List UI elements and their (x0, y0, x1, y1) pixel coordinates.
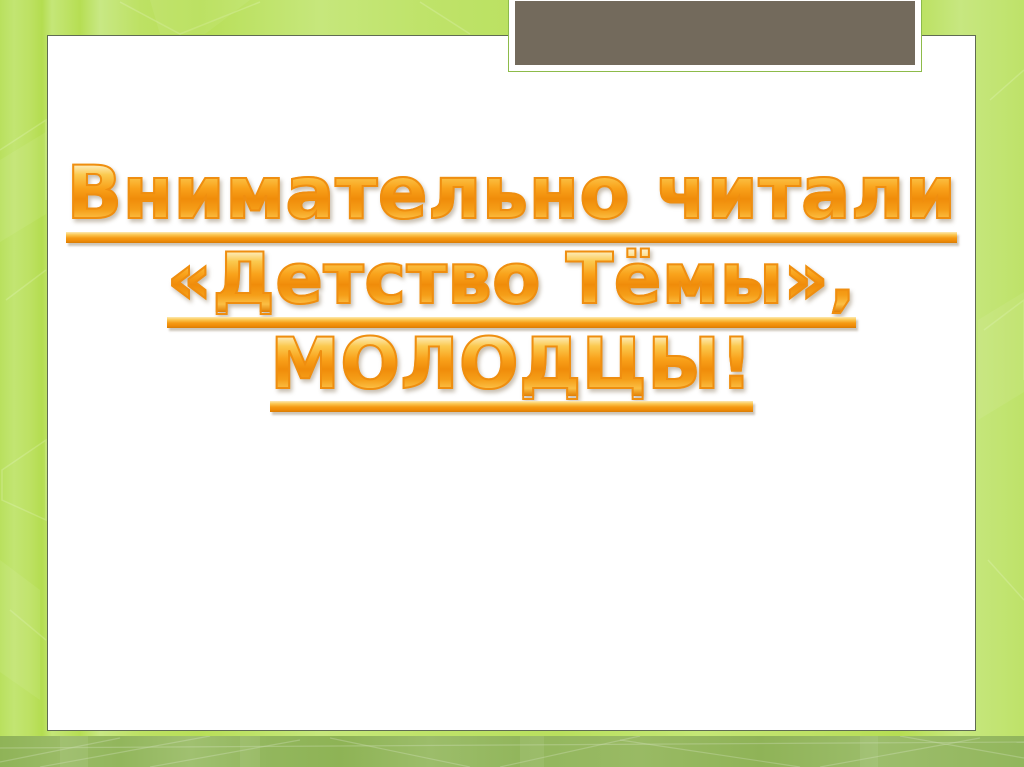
title-line-2-inner: «Детство Тёмы», «Детство Тёмы», (167, 247, 857, 327)
picture-placeholder-fill (515, 1, 915, 65)
title-line-3: МОЛОДЦЫ! МОЛОДЦЫ! (47, 332, 976, 412)
slide-title: Внимательно читали Внимательно читали «Д… (47, 160, 976, 412)
picture-placeholder[interactable] (508, 0, 922, 72)
title-line-3-text: МОЛОДЦЫ! (270, 332, 753, 396)
footer-band-pattern-icon (0, 736, 1024, 767)
title-line-1-inner: Внимательно читали Внимательно читали (66, 160, 956, 243)
title-line-1-text: Внимательно читали (66, 160, 956, 227)
title-line-3-inner: МОЛОДЦЫ! МОЛОДЦЫ! (270, 332, 753, 412)
title-line-2-text: «Детство Тёмы», (167, 247, 857, 311)
slide-footer-band (0, 736, 1024, 767)
title-line-1: Внимательно читали Внимательно читали (47, 160, 976, 243)
title-line-3-underline (270, 401, 753, 412)
title-line-2: «Детство Тёмы», «Детство Тёмы», (47, 247, 976, 327)
presentation-slide: Внимательно читали Внимательно читали «Д… (0, 0, 1024, 767)
